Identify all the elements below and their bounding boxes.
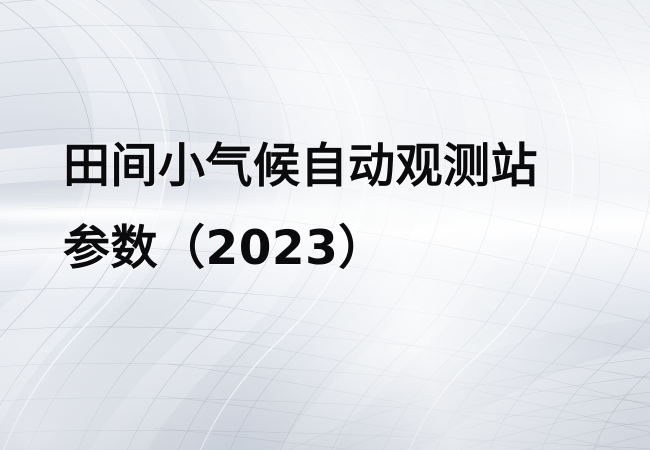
title-line-1: 田间小气候自动观测站 [63,126,603,208]
title-line-2: 参数（2023） [63,208,603,290]
page-title: 田间小气候自动观测站 参数（2023） [63,126,603,290]
title-card: 田间小气候自动观测站 参数（2023） [0,0,650,450]
